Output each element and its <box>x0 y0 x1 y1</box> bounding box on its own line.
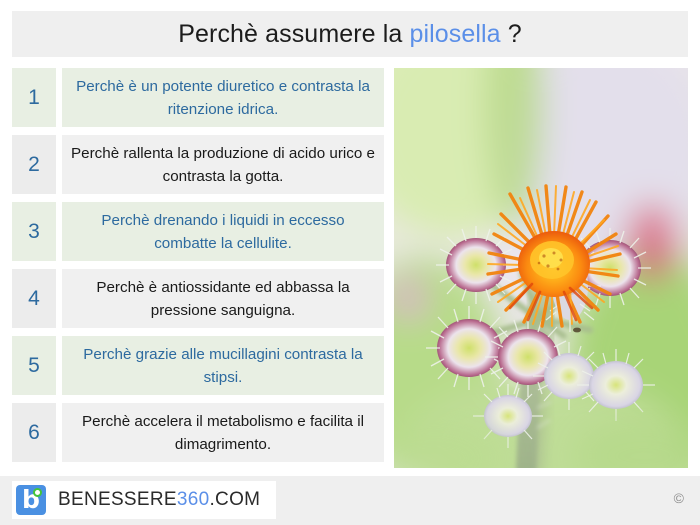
list-item-number: 2 <box>12 135 56 194</box>
benefits-list: 1 Perchè è un potente diuretico e contra… <box>12 68 384 468</box>
list-item-number: 3 <box>12 202 56 261</box>
brand-name-accent: 360 <box>177 489 210 510</box>
list-item-text: Perchè grazie alle mucillagini contrasta… <box>62 336 384 395</box>
list-item-text: Perchè è un potente diuretico e contrast… <box>62 68 384 127</box>
list-item-number: 4 <box>12 269 56 328</box>
list-item-text: Perchè accelera il metabolismo e facilit… <box>62 403 384 462</box>
list-item-number: 1 <box>12 68 56 127</box>
list-item-text: Perchè è antiossidante ed abbassa la pre… <box>62 269 384 328</box>
brand-name-main: BENESSERE <box>58 489 177 510</box>
page-title-bar: Perchè assumere la pilosella ? <box>12 11 688 57</box>
list-item: 4 Perchè è antiossidante ed abbassa la p… <box>12 269 384 328</box>
brand-logo[interactable]: b BENESSERE360.COM <box>12 481 276 519</box>
brand-name-tld: .COM <box>209 489 260 510</box>
site-footer: b BENESSERE360.COM © <box>0 476 700 525</box>
benessere-b-icon: b <box>16 485 46 515</box>
logo-ring-icon <box>33 488 42 497</box>
list-item: 2 Perchè rallenta la produzione di acido… <box>12 135 384 194</box>
pilosella-photo <box>394 68 688 468</box>
list-item-text: Perchè drenando i liquidi in eccesso com… <box>62 202 384 261</box>
list-item-text: Perchè rallenta la produzione di acido u… <box>62 135 384 194</box>
list-item: 1 Perchè è un potente diuretico e contra… <box>12 68 384 127</box>
list-item: 6 Perchè accelera il metabolismo e facil… <box>12 403 384 462</box>
title-highlight-pilosella: pilosella <box>409 20 500 48</box>
list-item-number: 5 <box>12 336 56 395</box>
brand-name: BENESSERE360.COM <box>58 489 260 511</box>
title-suffix: ? <box>501 20 522 48</box>
page-title: Perchè assumere la pilosella ? <box>178 20 521 49</box>
title-prefix: Perchè assumere la <box>178 20 409 48</box>
list-item-number: 6 <box>12 403 56 462</box>
list-item: 5 Perchè grazie alle mucillagini contras… <box>12 336 384 395</box>
list-item: 3 Perchè drenando i liquidi in eccesso c… <box>12 202 384 261</box>
copyright-symbol: © <box>674 490 684 506</box>
